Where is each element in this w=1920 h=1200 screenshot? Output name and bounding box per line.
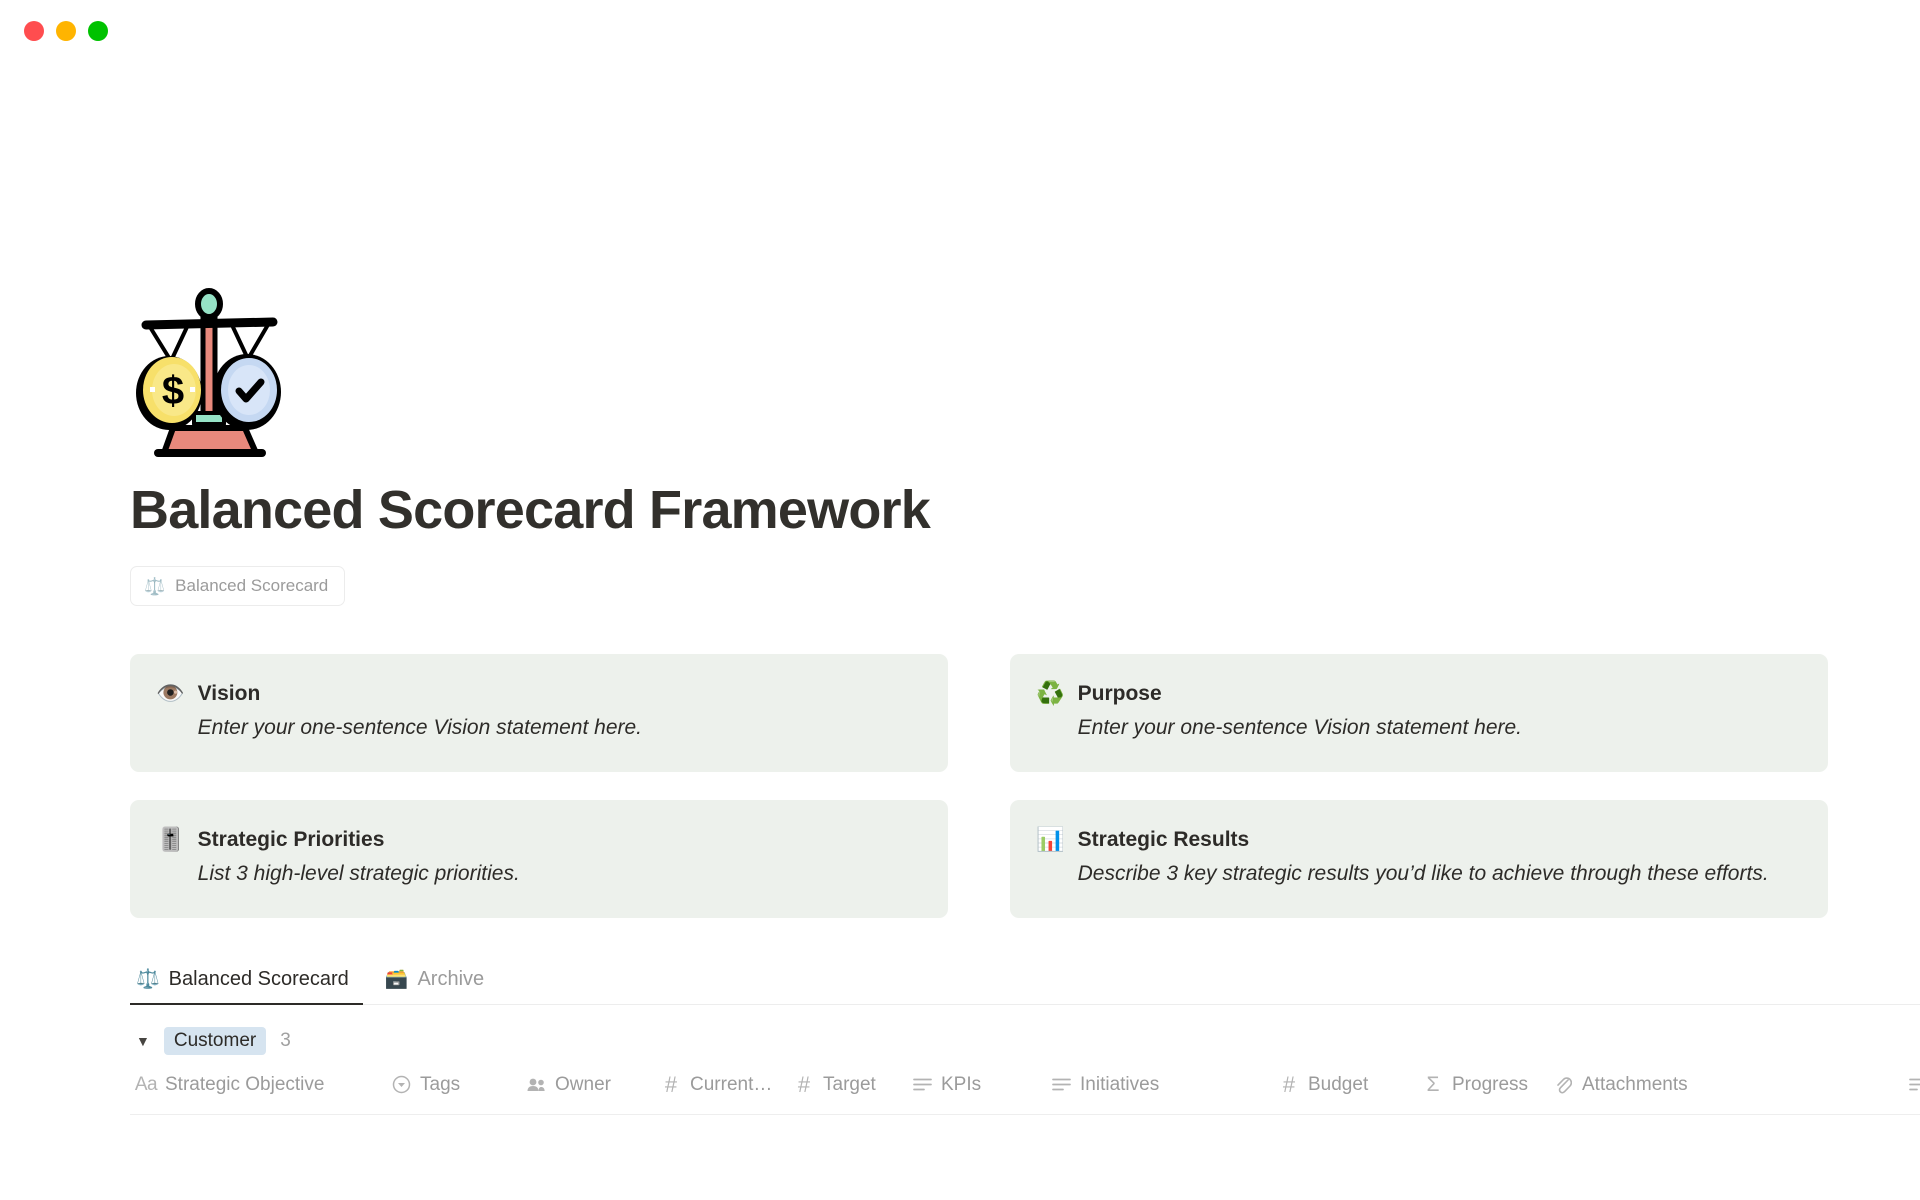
- text-lines-icon: [912, 1077, 932, 1092]
- close-window-button[interactable]: [24, 21, 44, 41]
- callout-title-purpose: Purpose: [1078, 681, 1522, 707]
- strategic-results-chart-icon: 📊: [1036, 826, 1065, 852]
- number-hash-icon: #: [1279, 1074, 1299, 1096]
- balance-scale-icon: ⚖️: [144, 578, 165, 595]
- archive-box-icon: 🗃️: [385, 970, 409, 989]
- page-content: $ Balanced Scorecard Framework ⚖️ Balanc…: [0, 62, 1920, 1115]
- column-label-progress: Progress: [1452, 1074, 1528, 1096]
- column-label-owner: Owner: [555, 1074, 611, 1096]
- column-header-budget[interactable]: # Budget: [1279, 1074, 1423, 1096]
- callout-purpose[interactable]: ♻️ Purpose Enter your one-sentence Visio…: [1010, 654, 1828, 772]
- paperclip-icon: [1553, 1075, 1573, 1094]
- tab-archive[interactable]: 🗃️ Archive: [379, 962, 498, 1004]
- svg-text:$: $: [162, 369, 184, 413]
- number-hash-icon: #: [661, 1074, 681, 1096]
- balance-scale-icon: ⚖️: [136, 970, 160, 989]
- callout-strategic-results[interactable]: 📊 Strategic Results Describe 3 key strat…: [1010, 800, 1828, 918]
- tab-balanced-scorecard-label: Balanced Scorecard: [169, 968, 349, 991]
- strategic-priorities-icon: 🎚️: [156, 826, 185, 852]
- callout-grid: 👁️ Vision Enter your one-sentence Vision…: [130, 654, 1920, 918]
- text-lines-icon: [1051, 1077, 1071, 1092]
- column-header-overflow[interactable]: [1906, 1077, 1920, 1092]
- column-header-attachments[interactable]: Attachments: [1553, 1074, 1723, 1096]
- maximize-window-button[interactable]: [88, 21, 108, 41]
- balance-scale-illustration-icon[interactable]: $: [130, 287, 300, 463]
- callout-text-strategic-priorities[interactable]: List 3 high-level strategic priorities.: [198, 858, 520, 890]
- select-circle-icon: [391, 1075, 411, 1094]
- purpose-recycle-icon: ♻️: [1036, 680, 1065, 706]
- callout-text-vision[interactable]: Enter your one-sentence Vision statement…: [198, 712, 642, 744]
- callout-strategic-priorities[interactable]: 🎚️ Strategic Priorities List 3 high-leve…: [130, 800, 948, 918]
- view-tab-bar: ⚖️ Balanced Scorecard 🗃️ Archive: [130, 962, 1920, 1005]
- vision-eye-bulb-icon: 👁️: [156, 680, 185, 706]
- page-title[interactable]: Balanced Scorecard Framework: [130, 481, 1920, 540]
- column-label-budget: Budget: [1308, 1074, 1368, 1096]
- callout-vision[interactable]: 👁️ Vision Enter your one-sentence Vision…: [130, 654, 948, 772]
- people-icon: [526, 1077, 546, 1093]
- column-header-tags[interactable]: Tags: [391, 1074, 526, 1096]
- callout-text-strategic-results[interactable]: Describe 3 key strategic results you’d l…: [1078, 858, 1769, 890]
- table-header-row: Aa Strategic Objective Tags Owner # Curr…: [130, 1069, 1920, 1115]
- group-badge-customer[interactable]: Customer: [164, 1027, 266, 1055]
- cover-spacer: [130, 62, 1920, 287]
- text-aa-icon: Aa: [136, 1074, 156, 1096]
- text-lines-icon: [1906, 1077, 1920, 1092]
- column-label-current: Current…: [690, 1074, 772, 1096]
- column-label-attachments: Attachments: [1582, 1074, 1688, 1096]
- chevron-down-icon[interactable]: ▼: [136, 1034, 150, 1048]
- callout-title-strategic-priorities: Strategic Priorities: [198, 827, 520, 853]
- callout-title-strategic-results: Strategic Results: [1078, 827, 1769, 853]
- column-label-strategic-objective: Strategic Objective: [165, 1074, 324, 1096]
- tab-archive-label: Archive: [417, 968, 484, 991]
- number-hash-icon: #: [794, 1074, 814, 1096]
- callout-title-vision: Vision: [198, 681, 642, 707]
- column-label-kpis: KPIs: [941, 1074, 981, 1096]
- minimize-window-button[interactable]: [56, 21, 76, 41]
- template-chip[interactable]: ⚖️ Balanced Scorecard: [130, 566, 345, 606]
- column-label-target: Target: [823, 1074, 876, 1096]
- column-label-tags: Tags: [420, 1074, 460, 1096]
- column-header-strategic-objective[interactable]: Aa Strategic Objective: [136, 1074, 391, 1096]
- callout-text-purpose[interactable]: Enter your one-sentence Vision statement…: [1078, 712, 1522, 744]
- tab-balanced-scorecard[interactable]: ⚖️ Balanced Scorecard: [130, 962, 363, 1004]
- template-chip-label: Balanced Scorecard: [175, 576, 328, 596]
- sigma-rollup-icon: Σ: [1423, 1074, 1443, 1095]
- column-header-progress[interactable]: Σ Progress: [1423, 1074, 1553, 1096]
- column-header-target[interactable]: # Target: [794, 1074, 912, 1096]
- column-header-initiatives[interactable]: Initiatives: [1051, 1074, 1279, 1096]
- column-header-current[interactable]: # Current…: [661, 1074, 794, 1096]
- column-label-initiatives: Initiatives: [1080, 1074, 1159, 1096]
- group-count: 3: [280, 1030, 291, 1052]
- column-header-kpis[interactable]: KPIs: [912, 1074, 1051, 1096]
- group-header-customer: ▼ Customer 3: [130, 1005, 1920, 1069]
- column-header-owner[interactable]: Owner: [526, 1074, 661, 1096]
- window-title-bar: [0, 0, 1920, 62]
